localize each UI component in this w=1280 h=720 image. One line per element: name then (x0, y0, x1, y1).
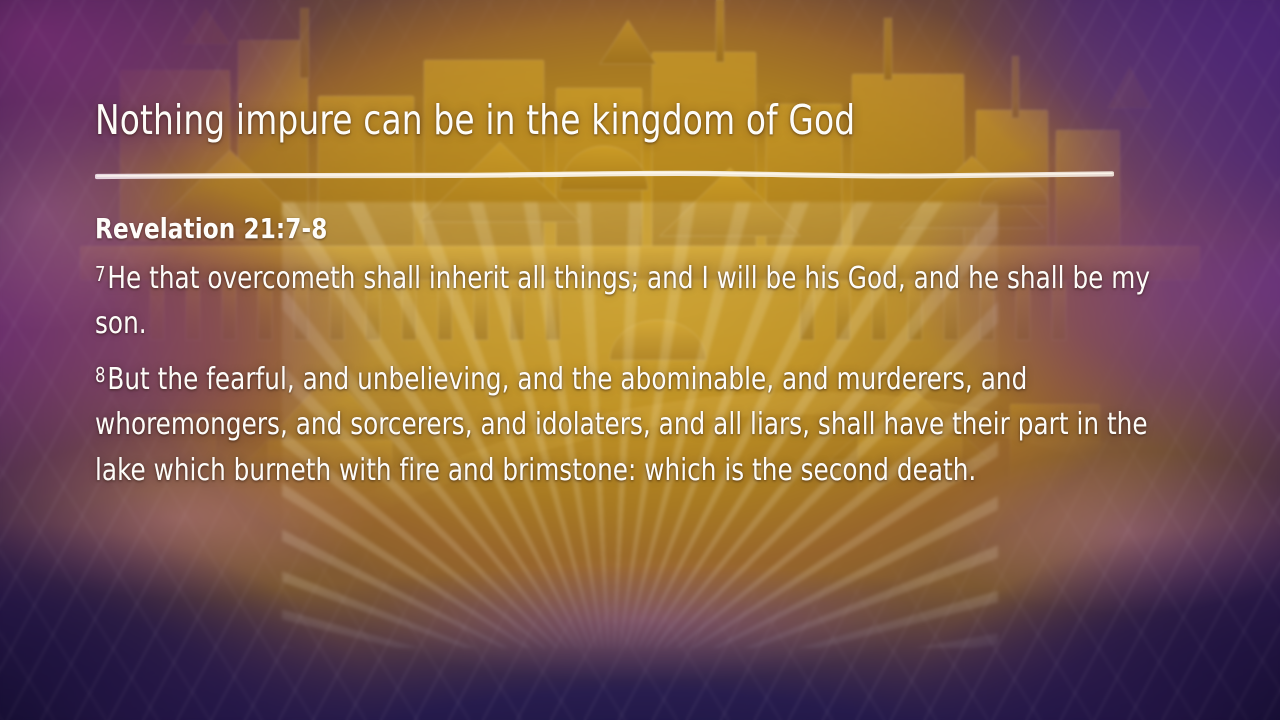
verse-paragraph: 7He that overcometh shall inherit all th… (95, 256, 1175, 347)
verse-paragraph: 8But the fearful, and unbelieving, and t… (95, 357, 1175, 494)
title-underline-decoration (95, 163, 1114, 187)
scripture-reference: Revelation 21:7-8 (95, 212, 1093, 246)
slide-content: Nothing impure can be in the kingdom of … (0, 0, 1280, 720)
verse-number: 8 (95, 363, 107, 387)
verse-text: He that overcometh shall inherit all thi… (95, 261, 1150, 342)
verse-text: But the fearful, and unbelieving, and th… (95, 362, 1148, 488)
verse-number: 7 (95, 262, 107, 286)
slide: Nothing impure can be in the kingdom of … (0, 0, 1280, 720)
scripture-block: Revelation 21:7-8 7He that overcometh sh… (95, 212, 1180, 494)
slide-title: Nothing impure can be in the kingdom of … (95, 97, 1047, 144)
